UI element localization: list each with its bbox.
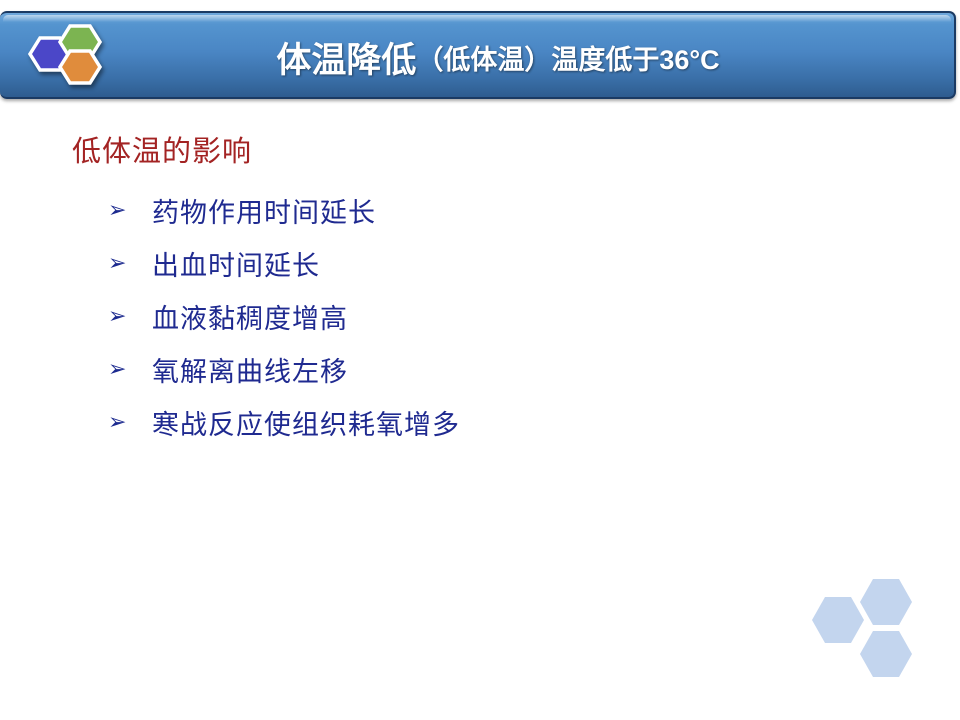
section-heading: 低体温的影响 — [72, 128, 252, 170]
hexagon-cluster-watermark — [800, 562, 950, 692]
watermark-hexagon-left — [812, 597, 864, 643]
list-item: ➢ 寒战反应使组织耗氧增多 — [108, 396, 808, 449]
bullet-list: ➢ 药物作用时间延长 ➢ 出血时间延长 ➢ 血液黏稠度增高 ➢ 氧解离曲线左移 … — [108, 184, 808, 449]
list-item: ➢ 氧解离曲线左移 — [108, 343, 808, 396]
arrow-bullet-icon: ➢ — [108, 200, 152, 222]
arrow-bullet-icon: ➢ — [108, 253, 152, 275]
list-item-label: 血液黏稠度增高 — [152, 297, 348, 336]
arrow-bullet-icon: ➢ — [108, 306, 152, 328]
slide-title-main: 体温降低 — [276, 32, 416, 83]
watermark-hexagon-top — [860, 579, 912, 625]
arrow-bullet-icon: ➢ — [108, 359, 152, 381]
list-item: ➢ 药物作用时间延长 — [108, 184, 808, 237]
watermark-hexagon-bottom — [860, 631, 912, 677]
list-item-label: 氧解离曲线左移 — [152, 350, 348, 389]
slide-canvas: 体温降低（低体温）温度低于36°C 低体温的影响 ➢ 药物作用时间延长 ➢ 出血… — [0, 0, 960, 720]
list-item-label: 药物作用时间延长 — [152, 191, 376, 230]
list-item: ➢ 出血时间延长 — [108, 237, 808, 290]
slide-title-sub: （低体温）温度低于36°C — [416, 38, 719, 77]
list-item: ➢ 血液黏稠度增高 — [108, 290, 808, 343]
list-item-label: 出血时间延长 — [152, 244, 320, 283]
title-banner: 体温降低（低体温）温度低于36°C — [0, 11, 956, 99]
arrow-bullet-icon: ➢ — [108, 412, 152, 434]
slide-title: 体温降低（低体温）温度低于36°C — [0, 13, 956, 101]
list-item-label: 寒战反应使组织耗氧增多 — [152, 403, 460, 442]
